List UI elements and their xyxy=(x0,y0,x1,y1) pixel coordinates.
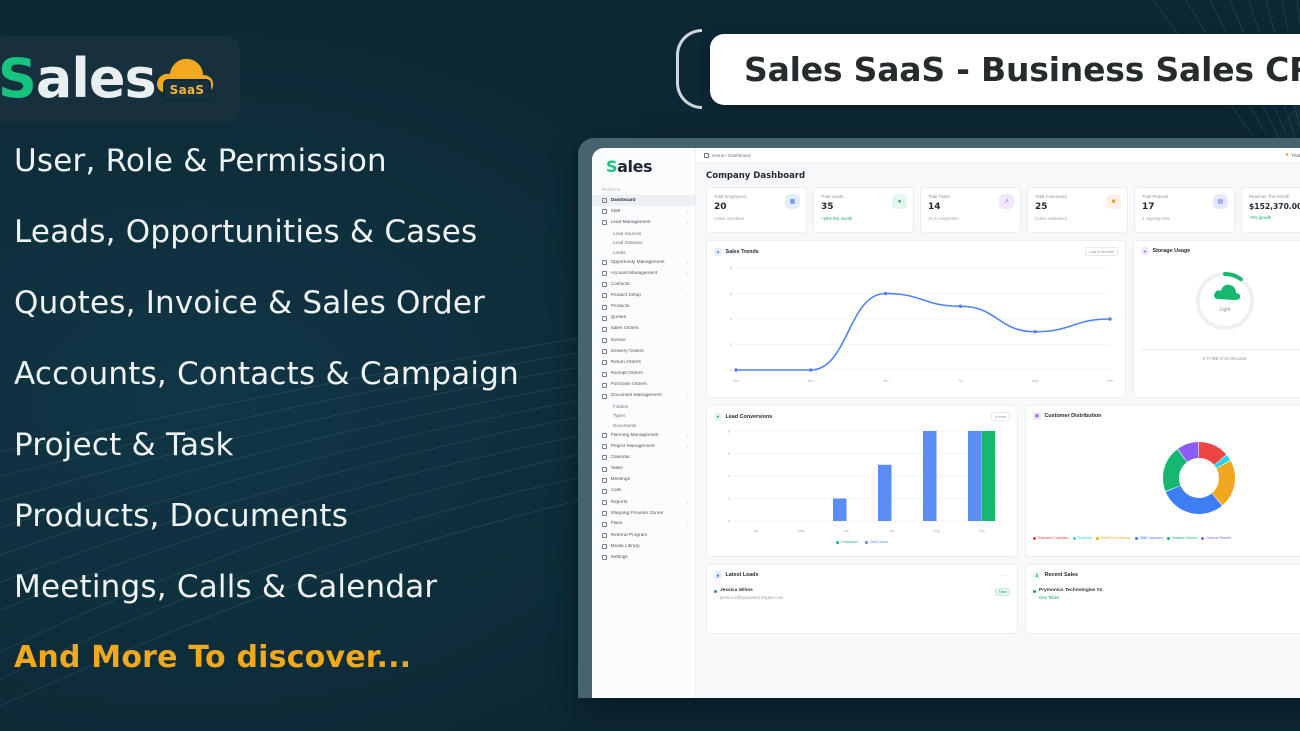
list-item-subtext: jessica.w@quotastechnogies.com xyxy=(720,595,783,600)
legend-label: Total Leads xyxy=(870,540,888,544)
card-title: $ Recent Sales xyxy=(1033,571,1078,579)
svg-text:Nov: Nov xyxy=(808,379,815,383)
customer-distribution-donut xyxy=(1033,424,1300,532)
list-item-content: Prymonics Technologies #4One Tablet xyxy=(1033,588,1102,600)
list-item-content: Jessica Wilmsjessica.w@quotastechnogies.… xyxy=(714,588,783,600)
legend-label: Prospects xyxy=(1078,536,1092,540)
legend-label: Strategic Partners xyxy=(1172,536,1198,540)
nav-item-icon xyxy=(602,349,607,354)
sidebar-item-label: Invoice xyxy=(611,338,689,344)
stat-card: Total Tasks1410 in completion↗ xyxy=(920,187,1021,233)
nav-item-icon xyxy=(602,338,607,343)
sidebar-item-label: Purchase Orders xyxy=(611,382,689,388)
sidebar-item-label: Referral Program xyxy=(611,533,689,539)
crown-icon: ★ xyxy=(1285,152,1289,158)
legend-item: Prospects xyxy=(1073,536,1092,540)
feature-item: Accounts, Contacts & Campaign xyxy=(14,359,574,390)
nav-item-icon xyxy=(602,544,607,549)
list-item-text: Prymonics Technologies #4One Tablet xyxy=(1039,588,1102,600)
stat-value: 35 xyxy=(821,203,852,212)
sidebar-item-label: Project Management xyxy=(611,444,685,450)
nav-item-icon xyxy=(602,360,607,365)
sidebar-item-label: Shipping Provider Zones xyxy=(611,511,689,517)
stat-card: Total Employees20Active members▦ xyxy=(706,187,807,233)
customer-distribution-card: ◉ Customer Distribution Enterprise Custo… xyxy=(1025,405,1300,557)
lead-conversions-card: ● Lead Conversions 6 mon 02468AprMayJunJ… xyxy=(706,405,1018,557)
sidebar-subitem-lead-sources[interactable]: Lead Sources xyxy=(592,229,695,239)
overflow-menu-icon[interactable]: ⋯ xyxy=(1000,572,1010,579)
sidebar-item-opportunity-management[interactable]: Opportunity Management› xyxy=(592,257,695,268)
sidebar-item-calendar[interactable]: Calendar xyxy=(592,452,695,463)
title-banner: Sales SaaS - Business Sales CRM xyxy=(676,29,1300,109)
legend-color-dot xyxy=(836,541,839,544)
donut-segment xyxy=(1166,486,1222,514)
sidebar-item-contacts[interactable]: Contacts xyxy=(592,279,695,290)
card-title-text: Lead Conversions xyxy=(726,414,773,420)
trend-icon: ▲ xyxy=(714,248,722,256)
nav-item-icon xyxy=(602,522,607,527)
svg-text:2: 2 xyxy=(730,343,732,347)
legend-color-dot xyxy=(1033,537,1036,540)
app-logo-rest: ales xyxy=(617,157,652,176)
sidebar-subitem-leads[interactable]: Leads xyxy=(592,248,695,258)
stat-subtext: +18% this month xyxy=(821,216,852,221)
svg-text:8: 8 xyxy=(728,430,730,434)
topbar-actions: ★ Trial xyxy=(1285,152,1300,158)
list-item-name: Prymonics Technologies #4 xyxy=(1039,588,1102,593)
stat-value: 14 xyxy=(928,203,959,212)
sales-trends-card: ▲ Sales Trends Last 6 months 02468DecNov… xyxy=(706,240,1126,398)
nav-item-icon xyxy=(602,327,607,332)
stat-label: Total Projects xyxy=(1142,194,1169,199)
sidebar-item-label: Return Orders xyxy=(611,360,689,366)
stat-card-icon: ■ xyxy=(1106,194,1121,209)
sidebar-section-label: Platform xyxy=(592,185,695,195)
nav-item-icon xyxy=(602,372,607,377)
status-badge: New xyxy=(995,588,1010,596)
legend-label: Enterprise Customers xyxy=(1038,536,1069,540)
nav-item-icon xyxy=(602,533,607,538)
card-title-text: Sales Trends xyxy=(726,249,759,255)
plan-label: Trial xyxy=(1291,153,1300,158)
sidebar-subitem-documents[interactable]: Documents xyxy=(592,421,695,431)
app-screenshot-frame: Sales Platform DashboardStaff›Lead Manag… xyxy=(578,138,1300,698)
title-pill: Sales SaaS - Business Sales CRM xyxy=(710,34,1300,105)
stat-label: Total Customers xyxy=(1035,194,1067,199)
cloud-icon: SaaS xyxy=(154,53,216,109)
storage-gauge: Light 0.77 MB of 10 GB used xyxy=(1141,259,1300,361)
sidebar-item-label: Opportunity Management xyxy=(611,260,685,266)
sidebar-item-label: Quotes xyxy=(611,315,689,321)
svg-text:Apr: Apr xyxy=(754,529,760,533)
nav-item-icon xyxy=(602,220,607,225)
chevron-right-icon: › xyxy=(687,260,688,265)
left-content-column: Sales SaaS User, Role & Permission Leads… xyxy=(0,0,580,731)
legend-item: Small Biz Customers xyxy=(1096,536,1131,540)
legend-item: Enterprise Customers xyxy=(1033,536,1069,540)
card-title: ● Lead Conversions xyxy=(714,413,772,421)
sidebar-subitem-types[interactable]: Types xyxy=(592,411,695,421)
breadcrumb[interactable]: Home / Dashboard xyxy=(704,153,751,158)
svg-text:6: 6 xyxy=(730,292,732,296)
sidebar-item-quotes[interactable]: Quotes xyxy=(592,313,695,324)
sidebar-item-sales-orders[interactable]: Sales Orders xyxy=(592,324,695,335)
nav-item-icon xyxy=(602,271,607,276)
sales-trends-line-chart: 02468DecNovJanJulAugFeb xyxy=(714,260,1118,388)
card-title-text: Storage Usage xyxy=(1153,248,1191,254)
legend-label: SMB Customers xyxy=(1140,536,1163,540)
svg-text:Feb: Feb xyxy=(1107,379,1113,383)
stat-card-body: Total Customers25Active customers xyxy=(1035,194,1067,221)
card-title: ■ Latest Leads xyxy=(714,571,758,579)
svg-text:Jun: Jun xyxy=(844,529,850,533)
recent-sales-list: Prymonics Technologies #4One Tablet xyxy=(1033,583,1300,600)
stat-card-body: Revenue This Month$152,370.00+9% growth xyxy=(1249,194,1300,220)
chevron-right-icon: › xyxy=(687,433,688,438)
stat-value: $152,370.00 xyxy=(1249,203,1300,211)
sidebar-item-label: Media Library xyxy=(611,544,689,550)
sidebar-item-label: Dashboard xyxy=(611,198,689,204)
nav-item-icon xyxy=(602,555,607,560)
feature-item: Meetings, Calls & Calendar xyxy=(14,572,574,603)
nav-item-icon xyxy=(602,305,607,310)
sidebar-item-label: Products xyxy=(611,304,689,310)
stat-card: Revenue This Month$152,370.00+9% growth xyxy=(1241,187,1300,233)
sidebar-item-label: Tasks xyxy=(611,466,689,472)
chevron-right-icon: › xyxy=(687,293,688,298)
app-main: Home / Dashboard ★ Trial Company Dashboa… xyxy=(696,148,1300,698)
lists-row: ■ Latest Leads ⋯ Jessica Wilmsjessica.w@… xyxy=(696,557,1300,634)
sidebar-item-reports[interactable]: Reports› xyxy=(592,497,695,508)
nav-item-icon xyxy=(602,316,607,321)
svg-text:0: 0 xyxy=(728,520,730,524)
chevron-right-icon: › xyxy=(687,522,688,527)
stat-card-icon: ▦ xyxy=(785,194,800,209)
charts-row-2: ● Lead Conversions 6 mon 02468AprMayJunJ… xyxy=(696,398,1300,557)
svg-text:2: 2 xyxy=(728,497,730,501)
stat-card-icon: ▤ xyxy=(1213,194,1228,209)
svg-text:Aug: Aug xyxy=(1032,379,1038,383)
stat-card-icon: ↗ xyxy=(999,194,1014,209)
stat-label: Total Employees xyxy=(714,194,746,199)
legend-label: Converted xyxy=(841,540,858,544)
nav-item-icon xyxy=(602,394,607,399)
latest-leads-card: ■ Latest Leads ⋯ Jessica Wilmsjessica.w@… xyxy=(706,564,1018,634)
feature-item: Quotes, Invoice & Sales Order xyxy=(14,288,574,319)
nav-item-icon xyxy=(602,455,607,460)
page-title: Sales SaaS - Business Sales CRM xyxy=(744,50,1300,89)
nav-item-icon xyxy=(602,198,607,203)
sidebar-item-label: Plans xyxy=(611,521,685,527)
svg-text:Aug: Aug xyxy=(933,529,939,533)
chevron-right-icon: › xyxy=(687,271,688,276)
sidebar-item-calls[interactable]: Calls xyxy=(592,486,695,497)
list-item-subtext: One Tablet xyxy=(1039,595,1102,600)
svg-text:Sep: Sep xyxy=(978,529,984,533)
nav-item-icon xyxy=(602,511,607,516)
chevron-right-icon: › xyxy=(687,220,688,225)
gauge-caption-text: Light xyxy=(1219,307,1230,313)
sidebar-item-settings[interactable]: Settings xyxy=(592,552,695,563)
stat-value: 25 xyxy=(1035,203,1067,212)
sidebar-item-shipping-provider-zones[interactable]: Shipping Provider Zones xyxy=(592,508,695,519)
sidebar-item-label: Product Setup xyxy=(611,293,685,299)
app-topbar: Home / Dashboard ★ Trial xyxy=(696,148,1300,163)
donut-chart-legend: Enterprise CustomersProspectsSmall Biz C… xyxy=(1033,536,1300,540)
nav-item-icon xyxy=(602,500,607,505)
card-title-text: Recent Sales xyxy=(1045,572,1079,578)
nav-item-icon xyxy=(602,260,607,265)
home-icon xyxy=(704,153,709,158)
legend-color-dot xyxy=(1073,537,1076,540)
stat-subtext: 10 in completion xyxy=(928,216,959,221)
sidebar-item-products[interactable]: Products xyxy=(592,302,695,313)
chevron-right-icon: › xyxy=(687,444,688,449)
legend-color-dot xyxy=(1135,537,1138,540)
card-title-text: Latest Leads xyxy=(726,572,759,578)
latest-leads-list: Jessica Wilmsjessica.w@quotastechnogies.… xyxy=(714,583,1010,600)
stat-value: 20 xyxy=(714,203,746,212)
svg-text:4: 4 xyxy=(728,475,730,479)
card-header: $ Recent Sales xyxy=(1033,571,1300,579)
sidebar-item-meetings[interactable]: Meetings xyxy=(592,475,695,486)
svg-text:Jul: Jul xyxy=(889,529,894,533)
legend-color-dot xyxy=(1201,537,1204,540)
list-item-name: Jessica Wilms xyxy=(720,588,783,593)
legend-label: Channel Partners xyxy=(1206,536,1231,540)
charts-row-1: ▲ Sales Trends Last 6 months 02468DecNov… xyxy=(696,233,1300,398)
card-title: ● Storage Usage xyxy=(1141,247,1190,255)
sidebar-item-label: Calendar xyxy=(611,455,689,461)
stat-card-row: Total Employees20Active members▦Total Le… xyxy=(696,187,1300,233)
stat-card-body: Total Employees20Active members xyxy=(714,194,746,221)
stat-card-icon: ● xyxy=(892,194,907,209)
sidebar-item-label: Planning Management xyxy=(611,433,685,439)
sidebar-nav-list: DashboardStaff›Lead Management›Lead Sour… xyxy=(592,195,695,564)
recent-sales-card: $ Recent Sales Prymonics Technologies #4… xyxy=(1025,564,1300,634)
nav-item-icon xyxy=(602,209,607,214)
feature-item: Products, Documents xyxy=(14,501,574,532)
svg-text:0: 0 xyxy=(730,369,732,373)
legend-item: Strategic Partners xyxy=(1167,536,1198,540)
card-header: ▲ Sales Trends Last 6 months xyxy=(714,247,1118,256)
sidebar-item-label: Account Management xyxy=(611,271,685,277)
stat-card-body: Total Leads35+18% this month xyxy=(821,194,852,221)
storage-usage-card: ● Storage Usage Light 0.77 MB of 10 GB u… xyxy=(1133,240,1300,398)
sidebar-item-plans[interactable]: Plans› xyxy=(592,519,695,530)
svg-text:8: 8 xyxy=(730,267,732,271)
sidebar-item-label: Staff xyxy=(611,209,685,215)
stat-label: Revenue This Month xyxy=(1249,194,1300,199)
sidebar-item-staff[interactable]: Staff› xyxy=(592,206,695,217)
saas-badge: SaaS xyxy=(163,79,212,101)
card-title: ◉ Customer Distribution xyxy=(1033,412,1101,420)
stat-card-body: Total Tasks1410 in completion xyxy=(928,194,959,221)
stat-subtext: Active members xyxy=(714,216,746,221)
app-sidebar-logo: Sales xyxy=(592,157,695,185)
chart-range-badge[interactable]: Last 6 months xyxy=(1085,247,1118,256)
sidebar-item-label: Settings xyxy=(611,555,689,561)
svg-text:6: 6 xyxy=(728,452,730,456)
brand-logo-initial: S xyxy=(0,47,36,110)
feature-list: User, Role & Permission Leads, Opportuni… xyxy=(14,146,574,673)
sidebar-item-label: Calls xyxy=(611,488,689,494)
storage-gauge-ring: Light xyxy=(1193,269,1257,333)
sidebar-item-referral-program[interactable]: Referral Program xyxy=(592,530,695,541)
leads-icon: ■ xyxy=(714,571,722,579)
stat-value: 17 xyxy=(1142,203,1169,212)
svg-text:Jul: Jul xyxy=(958,379,963,383)
brand-logo-rest: ales xyxy=(36,47,156,110)
sidebar-item-return-orders[interactable]: Return Orders xyxy=(592,357,695,368)
lead-conversions-bar-chart: 02468AprMayJunJulAugSep xyxy=(714,425,1010,537)
nav-item-icon xyxy=(602,489,607,494)
status-dot-icon xyxy=(714,590,717,593)
legend-label: Small Biz Customers xyxy=(1101,536,1131,540)
legend-color-dot xyxy=(1167,537,1170,540)
brand-logo-text: Sales xyxy=(0,52,156,106)
sidebar-item-label: Sales Orders xyxy=(611,326,689,332)
list-item-text: Jessica Wilmsjessica.w@quotastechnogies.… xyxy=(720,588,783,600)
stat-subtext: Active customers xyxy=(1035,216,1067,221)
sidebar-item-label: Meetings xyxy=(611,477,689,483)
card-title-text: Customer Distribution xyxy=(1045,413,1102,419)
bar-chart-legend: ConvertedTotal Leads xyxy=(714,540,1010,544)
svg-text:Dec: Dec xyxy=(733,379,740,383)
card-title: ▲ Sales Trends xyxy=(714,248,759,256)
card-header: ● Storage Usage xyxy=(1141,247,1300,255)
feature-more-text: And More To discover... xyxy=(14,643,574,673)
legend-item: Converted xyxy=(836,540,858,544)
chevron-right-icon: › xyxy=(687,500,688,505)
stat-subtext: 2 ongoing now xyxy=(1142,216,1169,221)
sidebar-item-receipt-orders[interactable]: Receipt Orders xyxy=(592,369,695,380)
sidebar-item-lead-management[interactable]: Lead Management› xyxy=(592,217,695,228)
legend-item: SMB Customers xyxy=(1135,536,1163,540)
nav-item-icon xyxy=(602,293,607,298)
svg-text:Jan: Jan xyxy=(883,379,889,383)
sidebar-item-purchase-orders[interactable]: Purchase Orders xyxy=(592,380,695,391)
svg-text:May: May xyxy=(798,529,805,533)
svg-text:4: 4 xyxy=(730,318,732,322)
sidebar-item-planning-management[interactable]: Planning Management› xyxy=(592,430,695,441)
distribution-icon: ◉ xyxy=(1033,412,1041,420)
sidebar-subitem-lead-statuses[interactable]: Lead Statuses xyxy=(592,238,695,248)
status-dot-icon xyxy=(1033,590,1036,593)
brand-logo: Sales SaaS xyxy=(0,36,240,122)
plan-badge[interactable]: ★ Trial xyxy=(1285,152,1300,158)
stat-subtext: +9% growth xyxy=(1249,215,1300,220)
card-header: ■ Latest Leads ⋯ xyxy=(714,571,1010,579)
sidebar-item-product-setup[interactable]: Product Setup› xyxy=(592,290,695,301)
nav-item-icon xyxy=(602,478,607,483)
dashboard-title: Company Dashboard xyxy=(696,163,1300,187)
card-header: ● Lead Conversions 6 mon xyxy=(714,412,1010,421)
sidebar-item-invoice[interactable]: Invoice xyxy=(592,335,695,346)
sidebar-item-account-management[interactable]: Account Management› xyxy=(592,268,695,279)
sidebar-item-delivery-orders[interactable]: Delivery Orders xyxy=(592,346,695,357)
stat-card-body: Total Projects172 ongoing now xyxy=(1142,194,1169,221)
app-sidebar[interactable]: Sales Platform DashboardStaff›Lead Manag… xyxy=(592,148,696,698)
chart-range-badge[interactable]: 6 mon xyxy=(991,412,1010,421)
nav-item-icon xyxy=(602,282,607,287)
sidebar-subitem-folders[interactable]: Folders xyxy=(592,402,695,412)
sidebar-item-document-management[interactable]: Document Management› xyxy=(592,391,695,402)
legend-item: Total Leads xyxy=(865,540,888,544)
stat-card: Total Leads35+18% this month● xyxy=(813,187,914,233)
stat-label: Total Leads xyxy=(821,194,852,199)
feature-item: User, Role & Permission xyxy=(14,146,574,177)
list-item[interactable]: Prymonics Technologies #4One Tablet xyxy=(1033,583,1300,600)
feature-item: Project & Task xyxy=(14,430,574,461)
chevron-right-icon: › xyxy=(687,209,688,214)
sidebar-item-label: Document Management xyxy=(611,393,685,399)
sidebar-item-tasks[interactable]: Tasks xyxy=(592,463,695,474)
sidebar-item-label: Delivery Orders xyxy=(611,349,689,355)
feature-item: Leads, Opportunities & Cases xyxy=(14,217,574,248)
sidebar-item-media-library[interactable]: Media Library xyxy=(592,541,695,552)
sales-icon: $ xyxy=(1033,571,1041,579)
chevron-right-icon: › xyxy=(687,394,688,399)
nav-item-icon xyxy=(602,383,607,388)
sidebar-item-dashboard[interactable]: Dashboard xyxy=(592,195,695,206)
nav-item-icon xyxy=(602,467,607,472)
sidebar-item-label: Receipt Orders xyxy=(611,371,689,377)
stat-card: Total Projects172 ongoing now▤ xyxy=(1134,187,1235,233)
stat-label: Total Tasks xyxy=(928,194,959,199)
storage-footer-text: 0.77 MB of 10 GB used xyxy=(1141,349,1300,361)
nav-item-icon xyxy=(602,444,607,449)
breadcrumb-text: Home / Dashboard xyxy=(712,153,751,158)
stat-card: Total Customers25Active customers■ xyxy=(1027,187,1128,233)
conversion-icon: ● xyxy=(714,413,722,421)
app-logo-initial: S xyxy=(606,157,617,176)
legend-item: Channel Partners xyxy=(1201,536,1231,540)
list-item[interactable]: Jessica Wilmsjessica.w@quotastechnogies.… xyxy=(714,583,1010,600)
sidebar-item-label: Lead Management xyxy=(611,220,685,226)
decorative-bracket xyxy=(676,29,702,109)
crm-application: Sales Platform DashboardStaff›Lead Manag… xyxy=(592,148,1300,698)
card-header: ◉ Customer Distribution xyxy=(1033,412,1300,420)
sidebar-item-label: Reports xyxy=(611,500,685,506)
sidebar-item-project-management[interactable]: Project Management› xyxy=(592,441,695,452)
legend-color-dot xyxy=(865,541,868,544)
legend-color-dot xyxy=(1096,537,1099,540)
storage-icon: ● xyxy=(1141,247,1149,255)
nav-item-icon xyxy=(602,433,607,438)
sidebar-item-label: Contacts xyxy=(611,282,689,288)
